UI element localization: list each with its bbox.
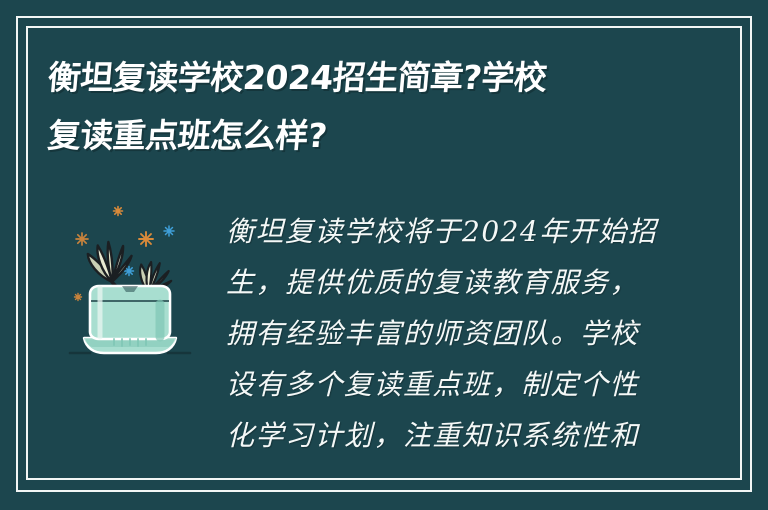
title-line-1: 衡坦复读学校2024招生简章?学校 bbox=[46, 56, 710, 100]
potted-plant-illustration bbox=[56, 196, 206, 368]
body-line-3: 拥有经验丰富的师资团队。学校 bbox=[226, 308, 696, 359]
article-body: 衡坦复读学校将于2024年开始招 生，提供优质的复读教育服务， 拥有经验丰富的师… bbox=[226, 206, 696, 461]
article-card: 衡坦复读学校2024招生简章?学校 复读重点班怎么样? bbox=[0, 0, 768, 510]
pot-body bbox=[90, 286, 170, 339]
body-line-5: 化学习计划，注重知识系统性和 bbox=[226, 410, 696, 461]
flower-left bbox=[86, 239, 134, 285]
title-line-2: 复读重点班怎么样? bbox=[46, 114, 710, 158]
body-line-2: 生，提供优质的复读教育服务， bbox=[226, 257, 696, 308]
body-line-1: 衡坦复读学校将于2024年开始招 bbox=[226, 206, 696, 257]
page-title: 衡坦复读学校2024招生简章?学校 复读重点班怎么样? bbox=[48, 56, 708, 158]
body-line-4: 设有多个复读重点班，制定个性 bbox=[226, 359, 696, 410]
